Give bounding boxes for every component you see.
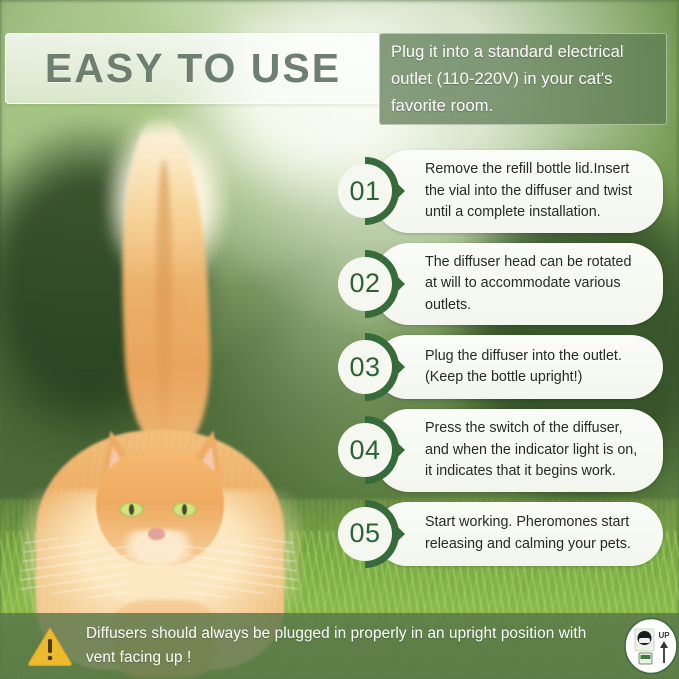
step-text: Remove the refill bottle lid.Insert the … <box>425 159 643 224</box>
step-number: 01 <box>331 154 399 228</box>
steps-list: Remove the refill bottle lid.Insert the … <box>331 150 663 576</box>
step-number: 03 <box>331 330 399 404</box>
infographic-page: EASY TO USE Plug it into a standard elec… <box>0 0 679 679</box>
diffuser-upright-icon: UP <box>623 617 679 675</box>
step-item: Plug the diffuser into the outlet. (Keep… <box>331 335 663 399</box>
cat-whiskers-left <box>19 534 134 601</box>
step-number: 05 <box>331 497 399 571</box>
warning-bar: Diffusers should always be plugged in pr… <box>0 613 679 679</box>
intro-text: Plug it into a standard electrical outle… <box>391 39 658 120</box>
intro-panel: Plug it into a standard electrical outle… <box>379 33 667 125</box>
step-text: The diffuser head can be rotated at will… <box>425 252 643 317</box>
cat-whiskers-right <box>183 534 298 601</box>
step-badge: 05 <box>331 497 419 571</box>
step-badge: 03 <box>331 330 419 404</box>
up-label: UP <box>658 631 670 640</box>
step-badge: 01 <box>331 154 419 228</box>
warning-triangle-icon <box>28 626 72 666</box>
title-panel: EASY TO USE <box>5 33 381 104</box>
step-badge: 04 <box>331 413 419 487</box>
cat-pupil-right <box>182 504 187 515</box>
warning-text: Diffusers should always be plugged in pr… <box>86 622 603 670</box>
cat-nose <box>148 528 165 540</box>
page-title: EASY TO USE <box>45 48 341 89</box>
step-badge: 02 <box>331 247 419 321</box>
cat-tail-spine <box>156 160 172 430</box>
step-item: Press the switch of the diffuser, and wh… <box>331 409 663 492</box>
step-item: The diffuser head can be rotated at will… <box>331 243 663 326</box>
cat-photo <box>0 130 330 600</box>
step-item: Start working. Pheromones start releasin… <box>331 502 663 566</box>
step-number: 02 <box>331 247 399 321</box>
step-text: Press the switch of the diffuser, and wh… <box>425 418 643 483</box>
step-text: Plug the diffuser into the outlet. (Keep… <box>425 346 643 389</box>
step-number: 04 <box>331 413 399 487</box>
step-item: Remove the refill bottle lid.Insert the … <box>331 150 663 233</box>
step-text: Start working. Pheromones start releasin… <box>425 512 643 555</box>
cat-pupil-left <box>129 504 134 515</box>
